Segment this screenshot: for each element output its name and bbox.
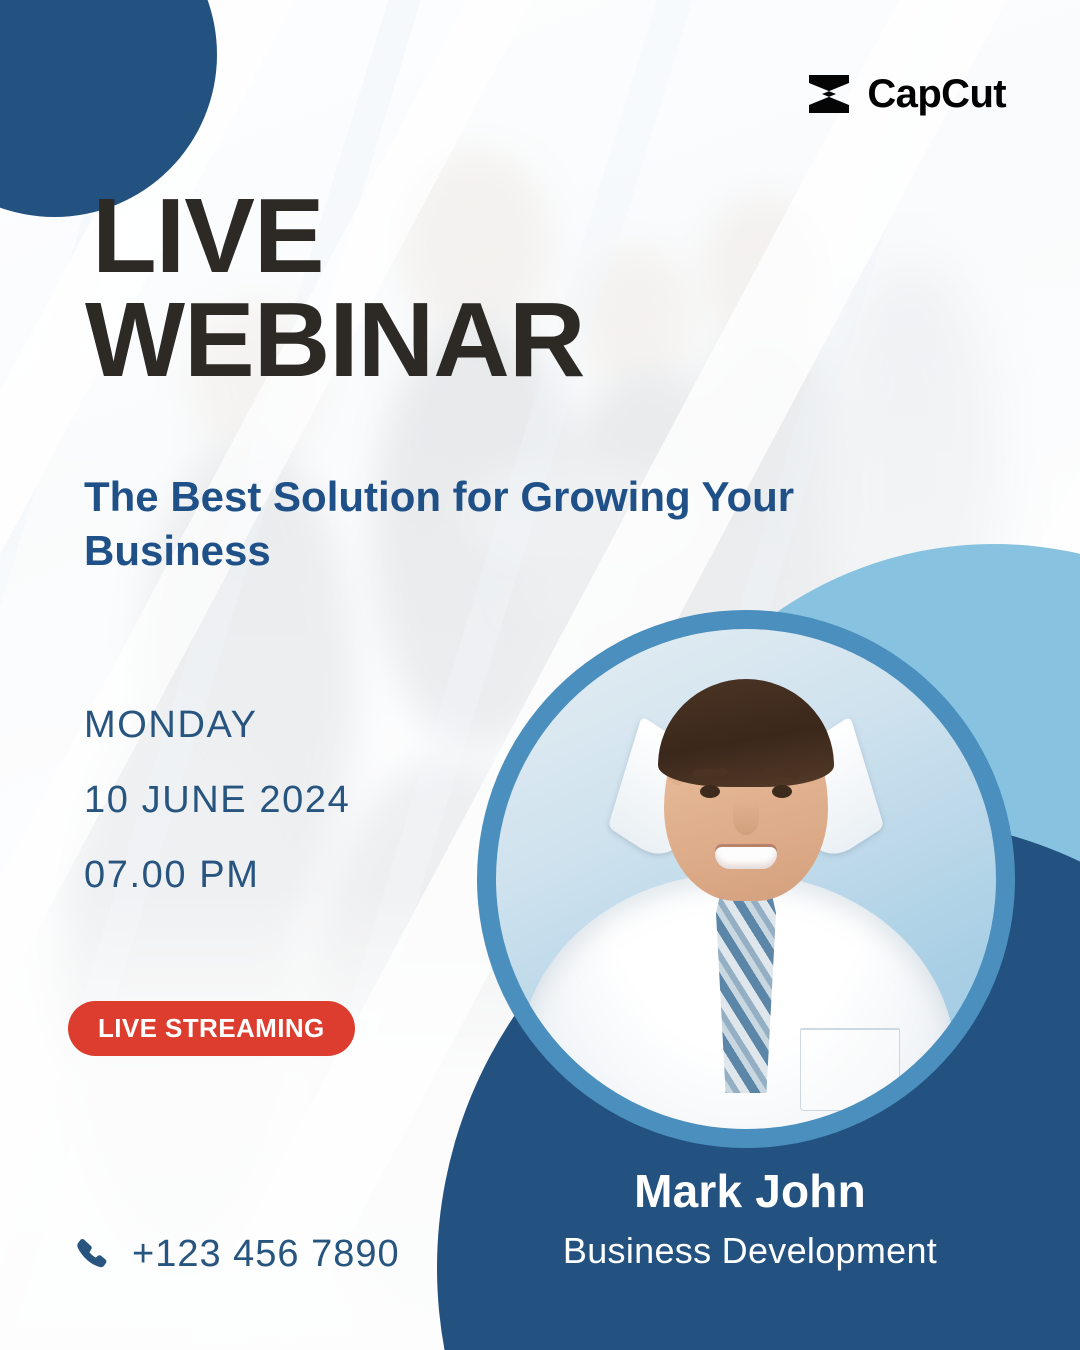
portrait-nose — [733, 801, 759, 835]
speaker-role: Business Development — [470, 1231, 1030, 1271]
title-line-2: WEBINAR — [85, 289, 745, 393]
speaker-name: Mark John — [470, 1166, 1030, 1217]
capcut-logo[interactable]: CapCut — [805, 70, 1006, 118]
speaker-info: Mark John Business Development — [470, 1166, 1030, 1270]
page-title: LIVE WEBINAR — [85, 185, 745, 393]
event-date: 10 JUNE 2024 — [84, 781, 350, 819]
portrait-eye-left — [700, 785, 720, 798]
capcut-hourglass-icon — [805, 70, 853, 118]
portrait-eye-right — [772, 785, 792, 798]
webinar-poster: CapCut LIVE WEBINAR The Best Solution fo… — [0, 0, 1080, 1350]
title-line-1: LIVE — [92, 185, 745, 289]
phone-icon — [74, 1236, 110, 1272]
event-time: 07.00 PM — [84, 856, 350, 894]
phone-number: +123 456 7890 — [132, 1235, 400, 1273]
speaker-portrait-frame — [477, 610, 1015, 1148]
contact-phone[interactable]: +123 456 7890 — [74, 1235, 400, 1273]
portrait-shirt-pocket — [800, 1028, 900, 1111]
live-streaming-badge[interactable]: LIVE STREAMING — [68, 1001, 355, 1056]
portrait-hair — [658, 679, 834, 787]
page-subtitle: The Best Solution for Growing Your Busin… — [84, 470, 864, 578]
speaker-avatar — [496, 629, 996, 1129]
event-day: MONDAY — [84, 706, 350, 744]
event-datetime: MONDAY 10 JUNE 2024 07.00 PM — [84, 706, 350, 931]
capcut-wordmark: CapCut — [867, 74, 1006, 114]
portrait-smile — [715, 847, 777, 869]
